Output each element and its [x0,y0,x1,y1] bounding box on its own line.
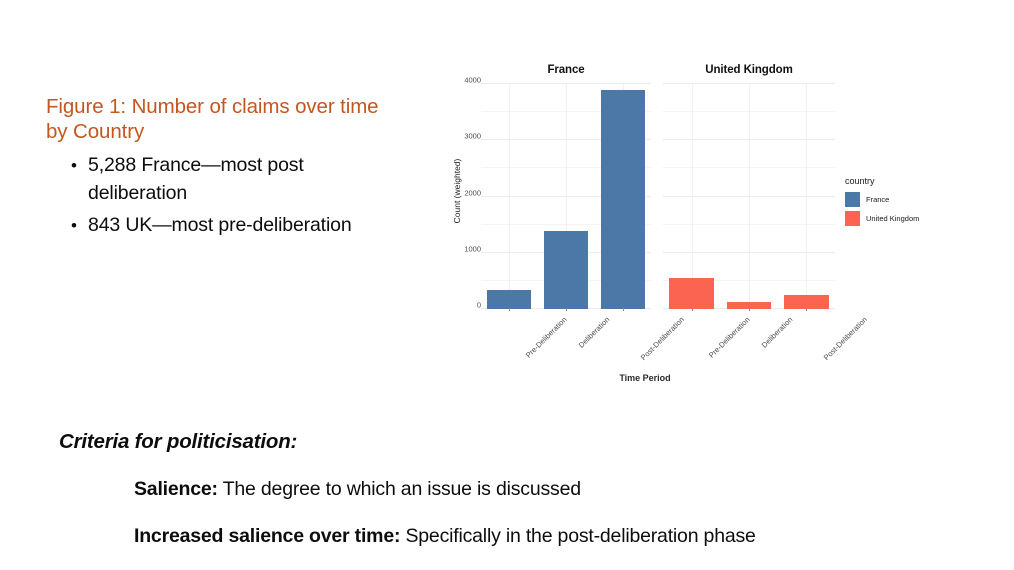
list-item-label: 5,288 France—most post deliberation [88,154,304,204]
facet-strip-label: France [481,64,651,76]
bar [669,278,714,309]
y-axis: 01000200030004000 [441,84,481,309]
x-tick-label: Pre-Deliberation [524,315,569,360]
x-tick-label: Post-Deliberation [822,315,869,362]
x-tick-mark [509,308,510,311]
x-axis-title: Time Period [455,373,835,383]
bar [784,295,829,309]
legend-item-label: France [866,195,889,204]
criteria-point-text: The degree to which an issue is discusse… [218,478,581,500]
legend-item-france: France [845,192,975,207]
facet-strip-label: United Kingdom [663,64,835,76]
legend-item-united-kingdom: United Kingdom [845,211,975,226]
legend-title: country [845,176,975,186]
figure-caption-block: Figure 1: Number of claims over time by … [46,94,396,245]
y-tick-label: 4000 [447,76,481,85]
legend-color-key [845,192,860,207]
criteria-block: Criteria for politicisation: Salience: T… [0,430,1014,548]
bullet-icon: • [71,152,77,180]
x-tick-mark [806,308,807,311]
bars-france [481,84,651,309]
x-axis: Pre-DeliberationDeliberationPost-Deliber… [481,311,835,371]
figure-bullet-list: • 5,288 France—most post deliberation • … [46,152,396,240]
y-tick-label: 1000 [447,244,481,253]
criteria-point: Increased salience over time: Specifical… [134,525,1014,548]
x-tick-label: Deliberation [577,315,612,350]
criteria-point-lead: Increased salience over time: [134,525,400,547]
y-tick-label: 2000 [447,188,481,197]
y-tick-label: 0 [447,301,481,310]
criteria-point-lead: Salience: [134,478,218,500]
x-tick-mark [692,308,693,311]
bar [544,231,588,309]
criteria-point-text: Specifically in the post-deliberation ph… [400,525,755,547]
x-tick-mark [623,308,624,311]
x-tick-mark [749,308,750,311]
chart-legend: country France United Kingdom [845,176,975,230]
panel-united-kingdom [663,84,835,309]
plot-area: France United Kingdom [481,84,835,309]
list-item: • 5,288 France—most post deliberation [88,152,396,207]
list-item-label: 843 UK—most pre-deliberation [88,214,352,236]
x-tick-label: Pre-Deliberation [707,315,752,360]
legend-item-label: United Kingdom [866,214,919,223]
bars-united-kingdom [663,84,835,309]
bullet-icon: • [71,212,77,240]
x-tick-label: Post-Deliberation [639,315,686,362]
criteria-point: Salience: The degree to which an issue i… [134,478,1014,501]
x-tick-label: Deliberation [760,315,795,350]
list-item: • 843 UK—most pre-deliberation [88,212,396,240]
page-title: Figure 1: Number of claims over time by … [46,94,396,144]
facet-united-kingdom: United Kingdom [663,84,835,309]
claims-bar-chart: Count (weighted) 01000200030004000 Franc… [441,58,986,400]
x-tick-mark [566,308,567,311]
legend-color-key [845,211,860,226]
bar [487,290,531,309]
facet-france: France [481,84,651,309]
y-tick-label: 3000 [447,132,481,141]
criteria-heading: Criteria for politicisation: [59,430,1014,454]
bar [601,90,645,309]
panel-france [481,84,651,309]
